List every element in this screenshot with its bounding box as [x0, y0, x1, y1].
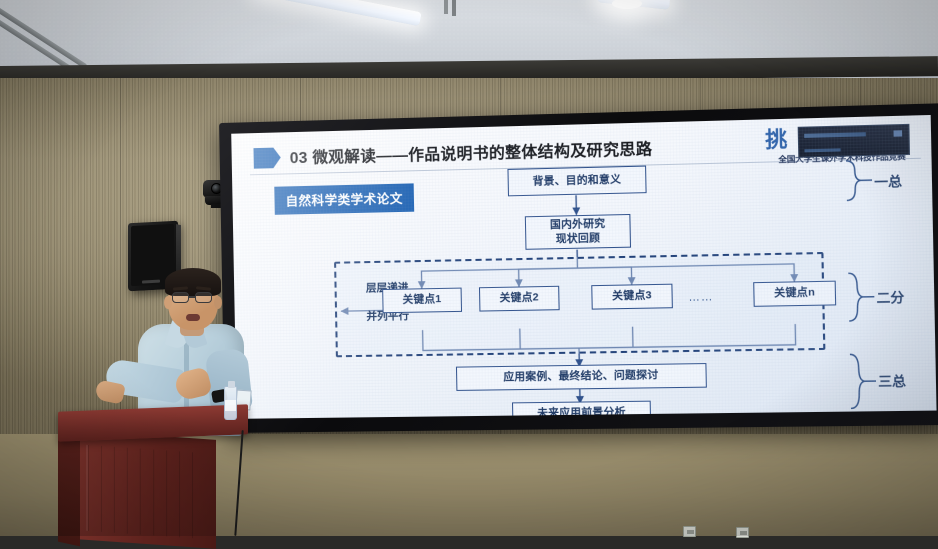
light-hanger-right [452, 0, 456, 16]
glasses-lens-right [195, 292, 212, 303]
flow-node-background: 背景、目的和意义 [507, 166, 646, 197]
flowchart: 层层递进 or 并列平行 背景、目的和意义 国内外研究 现状回顾 关键点1 关键… [231, 115, 936, 419]
lectern-top [58, 404, 248, 441]
lecture-hall-scene: 03 微观解读——作品说明书的整体结构及研究思路 自然科学类学术论文 挑 全国大… [0, 0, 938, 536]
presentation-screen: 03 微观解读——作品说明书的整体结构及研究思路 自然科学类学术论文 挑 全国大… [219, 103, 938, 433]
brace-label-one: 一总 [874, 171, 902, 191]
flow-ellipsis: …… [688, 291, 713, 304]
bottle-label [225, 400, 236, 411]
brace-label-two: 二分 [876, 287, 904, 307]
flow-node-future-outlook: 未来应用前景分析 [512, 401, 651, 419]
flow-node-key-point-1: 关键点1 [382, 288, 462, 314]
flow-node-key-point-2: 关键点2 [479, 286, 560, 312]
presenter-ear-left [164, 296, 172, 309]
glasses-bridge [189, 296, 195, 298]
glasses-lens-left [172, 292, 189, 303]
flow-node-cases-conclusion: 应用案例、最终结论、问题探讨 [456, 363, 707, 391]
light-hanger-left [444, 0, 448, 14]
presenter-mouth [186, 314, 200, 321]
lectern-body [76, 430, 216, 549]
brace-label-three: 三总 [878, 371, 906, 391]
water-bottle [224, 386, 237, 420]
wall-outlet [683, 526, 696, 537]
flow-node-literature-review: 国内外研究 现状回顾 [525, 214, 631, 250]
flow-node-key-point-3: 关键点3 [591, 284, 673, 310]
flow-node-key-point-n: 关键点n [753, 281, 836, 307]
bottle-cap [228, 381, 235, 388]
slide-surface: 03 微观解读——作品说明书的整体结构及研究思路 自然科学类学术论文 挑 全国大… [231, 115, 936, 419]
wall-outlet [736, 527, 749, 538]
lectern-side [58, 430, 80, 547]
presenter-ear-right [214, 296, 222, 309]
camera-mount [211, 204, 221, 208]
lectern [58, 408, 248, 536]
screen-bezel: 03 微观解读——作品说明书的整体结构及研究思路 自然科学类学术论文 挑 全国大… [219, 103, 938, 433]
lectern-front-panel [86, 445, 198, 539]
